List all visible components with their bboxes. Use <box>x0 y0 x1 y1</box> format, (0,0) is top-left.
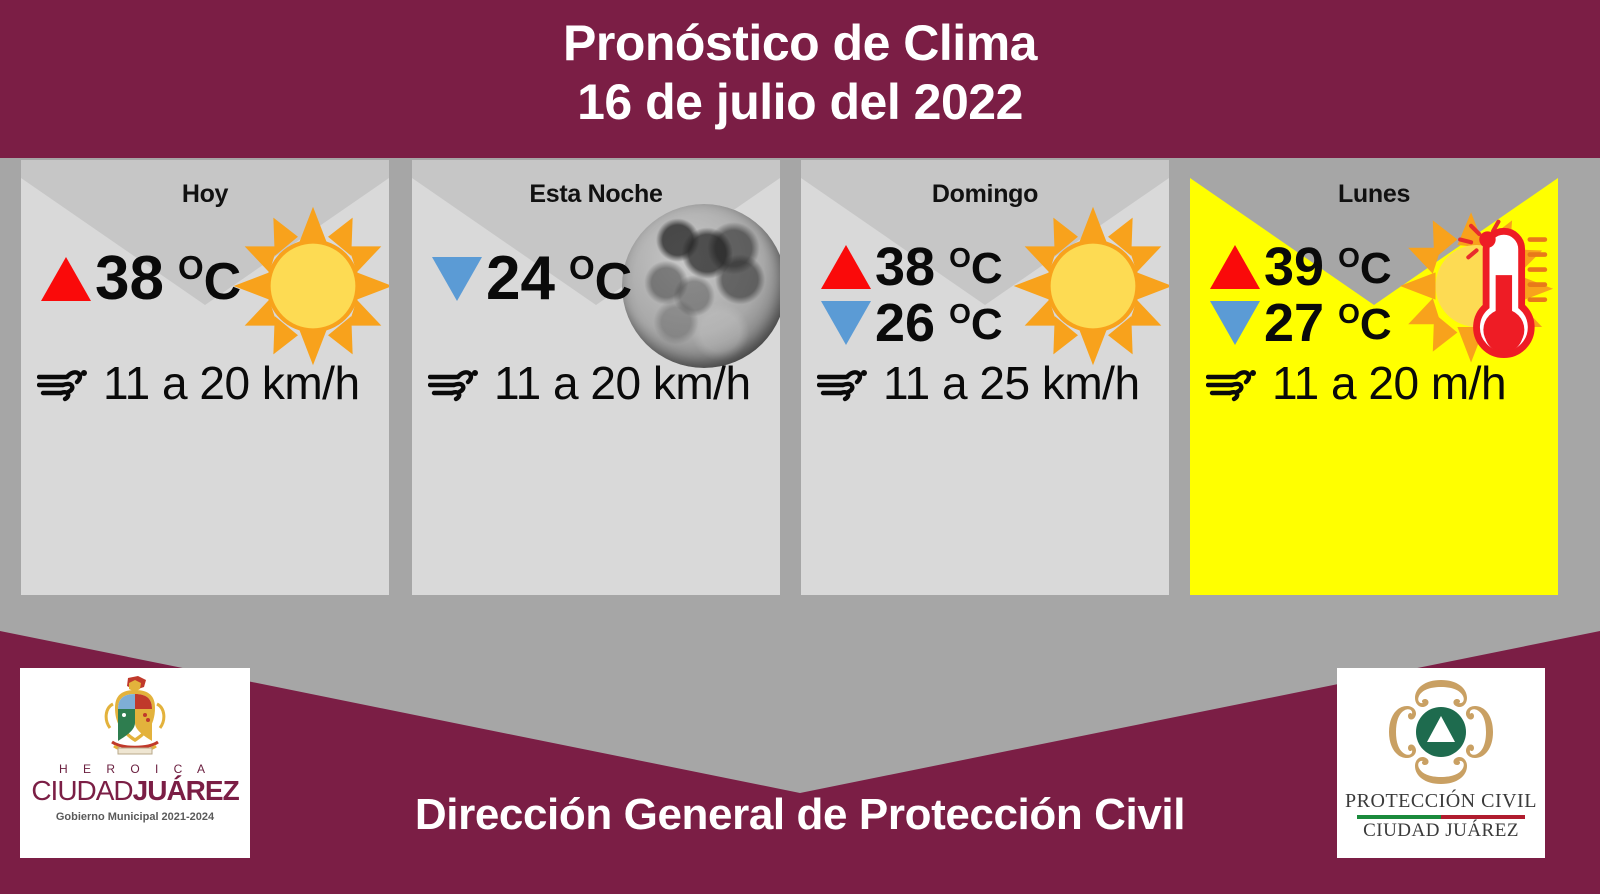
temperature-high-row: 38 OC <box>41 248 241 310</box>
temperature-block: 38 OC <box>41 248 241 310</box>
wind-row: 11 a 25 km/h <box>817 360 1140 406</box>
temperature-unit: OC <box>1338 300 1392 347</box>
wind-row: 11 a 20 km/h <box>428 360 751 406</box>
forecast-card-hoy[interactable]: Hoy <box>21 160 389 595</box>
temperature-value: 39 <box>1264 240 1324 294</box>
title-line-1: Pronóstico de Clima <box>0 14 1600 73</box>
ciudad-juarez-logo: H E R O I C A CIUDADJUÁREZ Gobierno Muni… <box>20 668 250 858</box>
mexico-flag-rule <box>1357 815 1525 819</box>
coat-of-arms-icon <box>98 674 172 760</box>
wind-row: 11 a 20 m/h <box>1206 360 1506 406</box>
temperature-block: 24 OC <box>432 248 632 310</box>
full-moon-icon <box>622 204 780 368</box>
temperature-high-row: 38 OC <box>821 240 1003 294</box>
temperature-unit: OC <box>1338 244 1392 291</box>
wind-icon <box>37 361 95 405</box>
heroica-label: H E R O I C A <box>59 762 211 776</box>
wind-text: 11 a 25 km/h <box>883 360 1140 406</box>
temperature-unit: OC <box>178 251 241 308</box>
temperature-unit: OC <box>949 300 1003 347</box>
arrow-down-icon <box>432 257 482 301</box>
wind-text: 11 a 20 m/h <box>1272 360 1506 406</box>
arrow-up-icon <box>41 257 91 301</box>
temperature-low-row: 24 OC <box>432 248 632 310</box>
thermometer-sun-icon <box>1400 204 1558 368</box>
sun-icon <box>231 204 389 368</box>
arrow-up-icon <box>1210 245 1260 289</box>
temperature-unit: OC <box>949 244 1003 291</box>
day-label: Lunes <box>1190 180 1558 209</box>
temperature-low-row: 26 OC <box>821 296 1003 350</box>
temperature-value: 38 <box>95 248 164 310</box>
arrow-down-icon <box>821 301 871 345</box>
temperature-block: 38 OC 26 OC <box>821 240 1003 350</box>
title-line-2: 16 de julio del 2022 <box>0 73 1600 132</box>
gobierno-municipal-label: Gobierno Municipal 2021-2024 <box>56 811 214 823</box>
wind-text: 11 a 20 km/h <box>103 360 360 406</box>
wind-icon <box>428 361 486 405</box>
poster-header: Pronóstico de Clima 16 de julio del 2022 <box>0 14 1600 132</box>
forecast-card-lunes[interactable]: Lunes <box>1190 160 1558 595</box>
temperature-block: 39 OC 27 OC <box>1210 240 1392 350</box>
wind-icon <box>1206 361 1264 405</box>
arrow-up-icon <box>821 245 871 289</box>
arrow-down-icon <box>1210 301 1260 345</box>
proteccion-civil-emblem-icon <box>1382 676 1500 788</box>
ciudad-juarez-wordmark: CIUDADJUÁREZ <box>31 776 238 805</box>
day-label: Esta Noche <box>412 180 780 209</box>
sun-icon <box>1011 204 1169 368</box>
temperature-value: 24 <box>486 248 555 310</box>
temperature-high-row: 39 OC <box>1210 240 1392 294</box>
temperature-value: 27 <box>1264 296 1324 350</box>
forecast-card-domingo[interactable]: Domingo <box>801 160 1169 595</box>
temperature-value: 26 <box>875 296 935 350</box>
temperature-value: 38 <box>875 240 935 294</box>
day-label: Hoy <box>21 180 389 209</box>
proteccion-civil-line-1: PROTECCIÓN CIVIL <box>1345 790 1537 813</box>
forecast-card-row: Hoy <box>0 160 1600 597</box>
temperature-unit: OC <box>569 251 632 308</box>
forecast-card-esta-noche[interactable]: Esta Noche 24 OC <box>412 160 780 595</box>
wind-row: 11 a 20 km/h <box>37 360 360 406</box>
wind-text: 11 a 20 km/h <box>494 360 751 406</box>
proteccion-civil-logo: PROTECCIÓN CIVIL CIUDAD JUÁREZ <box>1337 668 1545 858</box>
day-label: Domingo <box>801 180 1169 209</box>
wind-icon <box>817 361 875 405</box>
weather-forecast-poster: Pronóstico de Clima 16 de julio del 2022… <box>0 0 1600 894</box>
temperature-low-row: 27 OC <box>1210 296 1392 350</box>
proteccion-civil-line-2: CIUDAD JUÁREZ <box>1363 820 1519 842</box>
